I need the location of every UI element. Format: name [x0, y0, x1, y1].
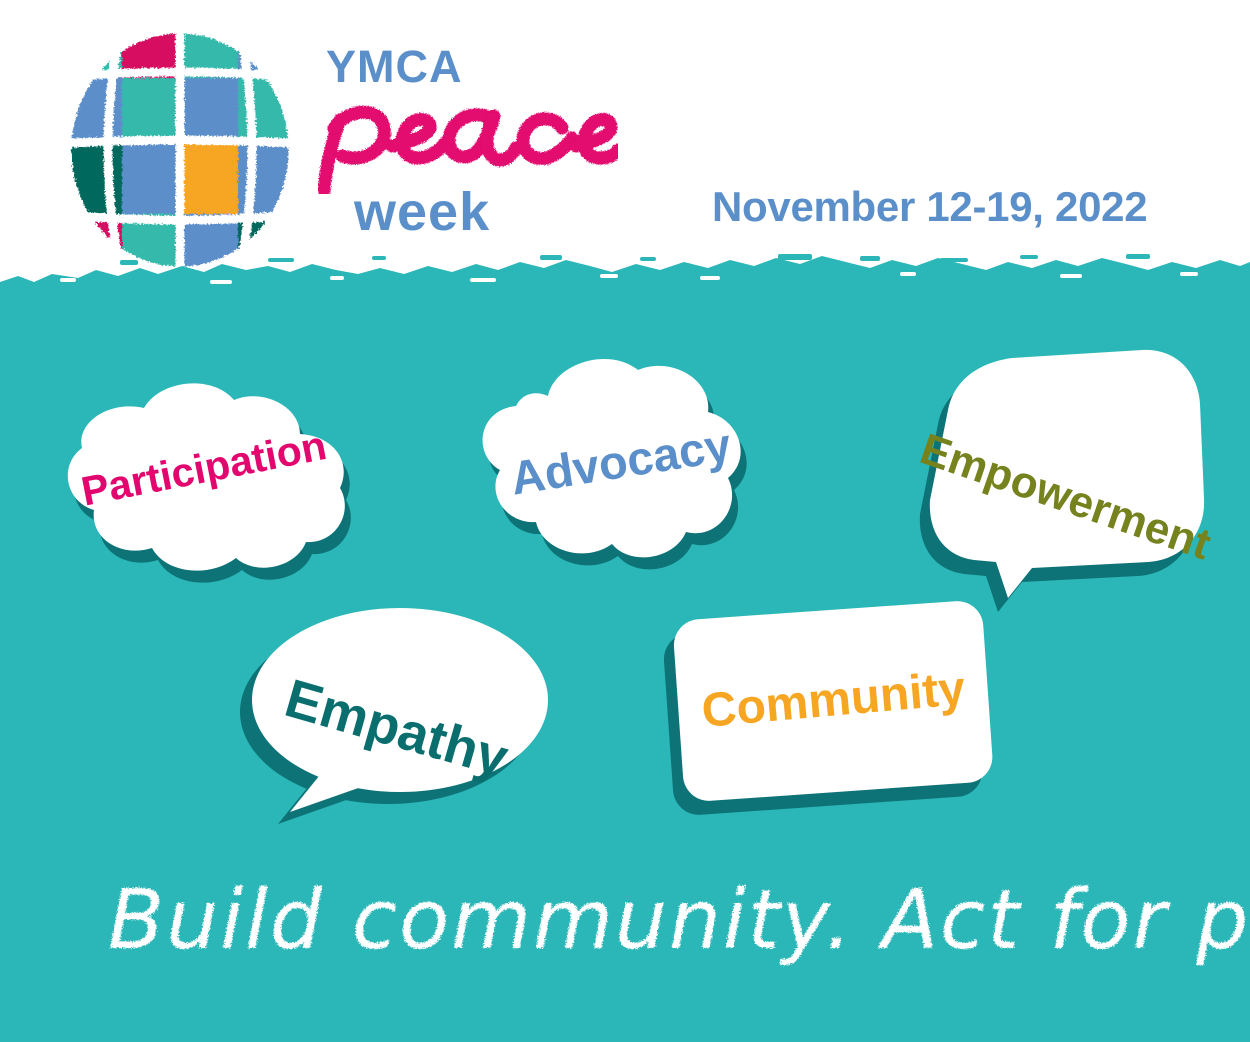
bubble-empathy[interactable]: Empathy [240, 600, 560, 825]
bubble-advocacy[interactable]: Advocacy [466, 352, 766, 597]
week-label: week [354, 185, 490, 239]
tagline-text: Build community. Act for peace. [108, 873, 1250, 968]
header-band: YMCA [0, 0, 1250, 300]
ymca-globe-logo [60, 26, 300, 274]
peace-script-label [318, 84, 618, 194]
bubble-community[interactable]: Community [668, 604, 1008, 819]
tagline: Build community. Act for peace. [0, 862, 1250, 982]
bubble-empowerment[interactable]: Empowerment [900, 348, 1210, 593]
peace-week-wordmark: YMCA [318, 38, 638, 238]
bubble-participation[interactable]: Participation [48, 378, 378, 608]
ymca-label: YMCA [326, 44, 463, 89]
event-date: November 12-19, 2022 [712, 183, 1147, 231]
